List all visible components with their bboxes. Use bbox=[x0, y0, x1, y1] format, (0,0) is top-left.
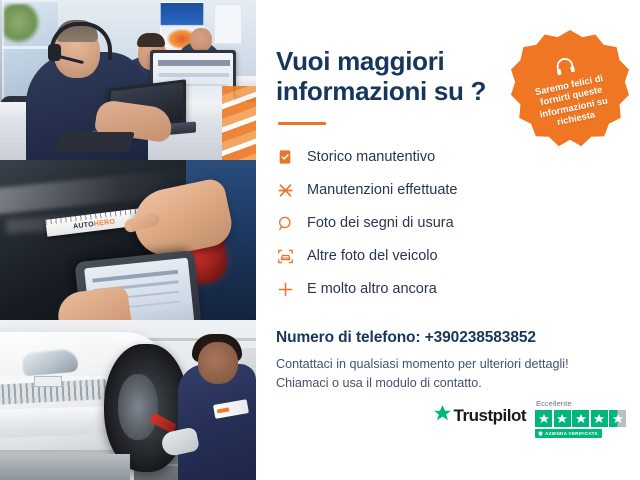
car-plate-decor bbox=[34, 376, 62, 387]
call-centre-agents-photo bbox=[0, 0, 256, 160]
trustpilot-rating[interactable]: Trustpilot Eccellente bbox=[433, 399, 626, 438]
contact-copy: Contattaci in qualsiasi momento per ulte… bbox=[276, 355, 620, 393]
feature-item-more: E molto altro ancora bbox=[276, 275, 620, 303]
feature-item-vehicle-photos: Altre foto del veicolo bbox=[276, 242, 620, 270]
page-title: Vuoi maggiori informazioni su ? bbox=[276, 46, 506, 106]
checklist-document-icon bbox=[276, 148, 294, 166]
trustpilot-logo: Trustpilot bbox=[433, 404, 526, 438]
star-half bbox=[609, 410, 626, 427]
vehicle-lift-decor bbox=[0, 454, 130, 480]
autohero-logo: AUTOHERO bbox=[73, 218, 116, 230]
trustpilot-score: Eccellente bbox=[535, 399, 626, 438]
feature-label: E molto altro ancora bbox=[307, 282, 437, 297]
page-title-line-1: Vuoi maggiori bbox=[276, 46, 444, 76]
trustpilot-stars bbox=[535, 410, 626, 427]
verified-check-icon bbox=[538, 431, 543, 436]
star-filled bbox=[535, 410, 552, 427]
feature-label: Storico manutentivo bbox=[307, 150, 435, 165]
car-bumper-decor bbox=[0, 406, 118, 439]
title-underline-rule bbox=[278, 122, 326, 125]
agent-3-head bbox=[190, 28, 212, 52]
star-filled bbox=[591, 410, 608, 427]
star-filled bbox=[572, 410, 589, 427]
feature-item-maintenance-done: Manutenzioni effettuate bbox=[276, 176, 620, 204]
plus-icon bbox=[276, 280, 294, 298]
verified-label: AZIENDA VERIFICATA bbox=[545, 431, 598, 436]
feature-label: Manutenzioni effettuate bbox=[307, 183, 457, 198]
page-title-line-2: informazioni su ? bbox=[276, 76, 486, 106]
feature-label: Altre foto del veicolo bbox=[307, 249, 438, 264]
car-headlight-decor bbox=[21, 348, 79, 377]
desk-tablet-decor bbox=[55, 132, 135, 152]
info-on-request-badge: Saremo felici di fornirti queste informa… bbox=[511, 30, 629, 148]
contact-copy-line-2: Chiamaci o usa il modulo di contatto. bbox=[276, 376, 482, 390]
contact-copy-line-1: Contattaci in qualsiasi momento per ulte… bbox=[276, 357, 569, 371]
phone-number-label[interactable]: Numero di telefono: +390238583852 bbox=[276, 329, 620, 347]
star-filled bbox=[554, 410, 571, 427]
feature-label: Foto dei segni di usura bbox=[307, 216, 454, 231]
technician-head bbox=[198, 342, 238, 384]
feature-list: Storico manutentivo Manutenzioni effettu… bbox=[276, 143, 620, 303]
scan-car-icon bbox=[276, 247, 294, 265]
wrench-tools-icon bbox=[276, 181, 294, 199]
magnifier-icon bbox=[276, 214, 294, 232]
vehicle-inspection-photo: AUTOHERO bbox=[0, 160, 256, 320]
foliage-decor bbox=[4, 4, 40, 44]
trustpilot-star-icon bbox=[433, 404, 452, 428]
workshop-technician-photo bbox=[0, 320, 256, 480]
headset-earcup-decor bbox=[48, 44, 61, 61]
feature-item-wear-photos: Foto dei segni di usura bbox=[276, 209, 620, 237]
trustpilot-rating-label: Eccellente bbox=[536, 399, 572, 408]
trustpilot-wordmark: Trustpilot bbox=[454, 406, 526, 426]
headset-icon bbox=[552, 54, 578, 80]
wall-notice-decor bbox=[214, 4, 242, 44]
orange-banner-decor bbox=[222, 86, 256, 160]
verified-company-badge: AZIENDA VERIFICATA bbox=[535, 429, 602, 438]
content-panel: Vuoi maggiori informazioni su ? Storico … bbox=[256, 0, 640, 480]
photo-column: AUTOHERO bbox=[0, 0, 256, 480]
promo-banner: AUTOHERO bbox=[0, 0, 640, 480]
